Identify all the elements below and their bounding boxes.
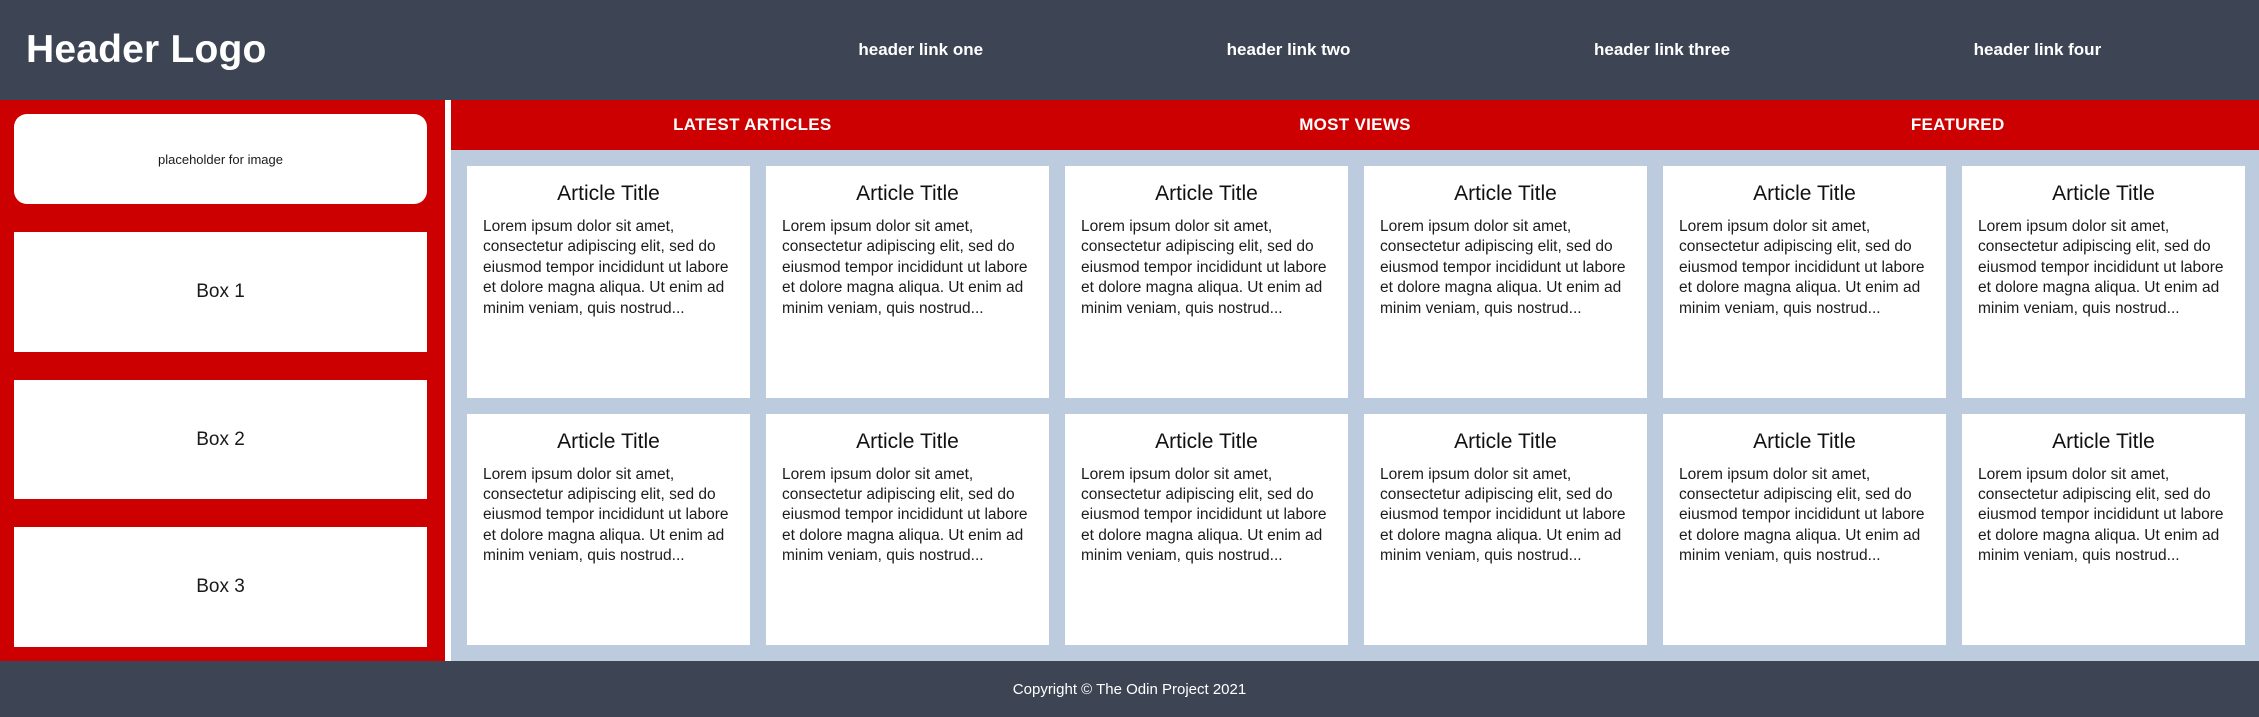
article-card-text: Lorem ipsum dolor sit amet, consectetur … — [1081, 217, 1332, 319]
sidebar-image-placeholder-label: placeholder for image — [158, 152, 283, 167]
sidebar-box-3-label: Box 3 — [196, 576, 245, 598]
article-row-2: Article Title Lorem ipsum dolor sit amet… — [467, 414, 2245, 646]
article-card[interactable]: Article Title Lorem ipsum dolor sit amet… — [467, 414, 750, 646]
article-card[interactable]: Article Title Lorem ipsum dolor sit amet… — [1364, 414, 1647, 646]
article-card-title: Article Title — [1081, 430, 1332, 454]
header-link-three[interactable]: header link three — [1594, 40, 1730, 60]
sidebar-box-2[interactable]: Box 2 — [14, 380, 427, 500]
article-card[interactable]: Article Title Lorem ipsum dolor sit amet… — [1364, 166, 1647, 398]
article-row-1: Article Title Lorem ipsum dolor sit amet… — [467, 166, 2245, 398]
article-card-text: Lorem ipsum dolor sit amet, consectetur … — [1978, 465, 2229, 567]
header-nav: header link one header link two header l… — [267, 40, 2259, 60]
body-row: placeholder for image Box 1 Box 2 Box 3 … — [0, 100, 2259, 661]
article-card[interactable]: Article Title Lorem ipsum dolor sit amet… — [766, 414, 1049, 646]
article-grid: Article Title Lorem ipsum dolor sit amet… — [451, 150, 2259, 661]
sidebar-box-1-label: Box 1 — [196, 281, 245, 303]
article-card[interactable]: Article Title Lorem ipsum dolor sit amet… — [1663, 414, 1946, 646]
article-card-text: Lorem ipsum dolor sit amet, consectetur … — [1978, 217, 2229, 319]
article-card-text: Lorem ipsum dolor sit amet, consectetur … — [1081, 465, 1332, 567]
category-tabbar: LATEST ARTICLES MOST VIEWS FEATURED — [451, 100, 2259, 150]
site-footer: Copyright © The Odin Project 2021 — [0, 661, 2259, 717]
article-card[interactable]: Article Title Lorem ipsum dolor sit amet… — [766, 166, 1049, 398]
tab-latest-articles[interactable]: LATEST ARTICLES — [451, 115, 1054, 135]
site-header: Header Logo header link one header link … — [0, 0, 2259, 100]
article-card-text: Lorem ipsum dolor sit amet, consectetur … — [782, 465, 1033, 567]
article-card[interactable]: Article Title Lorem ipsum dolor sit amet… — [1663, 166, 1946, 398]
header-link-four[interactable]: header link four — [1974, 40, 2102, 60]
sidebar-box-1[interactable]: Box 1 — [14, 232, 427, 352]
article-card[interactable]: Article Title Lorem ipsum dolor sit amet… — [1962, 414, 2245, 646]
article-card-title: Article Title — [1081, 182, 1332, 206]
article-card-text: Lorem ipsum dolor sit amet, consectetur … — [782, 217, 1033, 319]
article-card[interactable]: Article Title Lorem ipsum dolor sit amet… — [1065, 414, 1348, 646]
header-link-one[interactable]: header link one — [858, 40, 983, 60]
sidebar-image-placeholder[interactable]: placeholder for image — [14, 114, 427, 204]
article-card-title: Article Title — [782, 430, 1033, 454]
header-link-two[interactable]: header link two — [1227, 40, 1351, 60]
article-card-text: Lorem ipsum dolor sit amet, consectetur … — [1380, 217, 1631, 319]
main-content: LATEST ARTICLES MOST VIEWS FEATURED Arti… — [445, 100, 2259, 661]
article-card-text: Lorem ipsum dolor sit amet, consectetur … — [1380, 465, 1631, 567]
sidebar-box-3[interactable]: Box 3 — [14, 527, 427, 647]
article-card-text: Lorem ipsum dolor sit amet, consectetur … — [1679, 465, 1930, 567]
article-card-title: Article Title — [1679, 430, 1930, 454]
article-card-title: Article Title — [483, 182, 734, 206]
article-card-text: Lorem ipsum dolor sit amet, consectetur … — [483, 465, 734, 567]
article-card-title: Article Title — [483, 430, 734, 454]
tab-most-views[interactable]: MOST VIEWS — [1054, 115, 1657, 135]
page-root: Header Logo header link one header link … — [0, 0, 2259, 717]
tab-featured[interactable]: FEATURED — [1656, 115, 2259, 135]
article-card-title: Article Title — [1679, 182, 1930, 206]
sidebar: placeholder for image Box 1 Box 2 Box 3 — [0, 100, 445, 661]
article-card-text: Lorem ipsum dolor sit amet, consectetur … — [1679, 217, 1930, 319]
sidebar-box-2-label: Box 2 — [196, 429, 245, 451]
article-card-title: Article Title — [1978, 182, 2229, 206]
header-logo: Header Logo — [26, 28, 267, 72]
article-card[interactable]: Article Title Lorem ipsum dolor sit amet… — [467, 166, 750, 398]
article-card-title: Article Title — [1380, 182, 1631, 206]
article-card[interactable]: Article Title Lorem ipsum dolor sit amet… — [1065, 166, 1348, 398]
article-card-title: Article Title — [782, 182, 1033, 206]
footer-copyright: Copyright © The Odin Project 2021 — [1013, 681, 1246, 698]
article-card[interactable]: Article Title Lorem ipsum dolor sit amet… — [1962, 166, 2245, 398]
article-card-text: Lorem ipsum dolor sit amet, consectetur … — [483, 217, 734, 319]
article-card-title: Article Title — [1978, 430, 2229, 454]
article-card-title: Article Title — [1380, 430, 1631, 454]
